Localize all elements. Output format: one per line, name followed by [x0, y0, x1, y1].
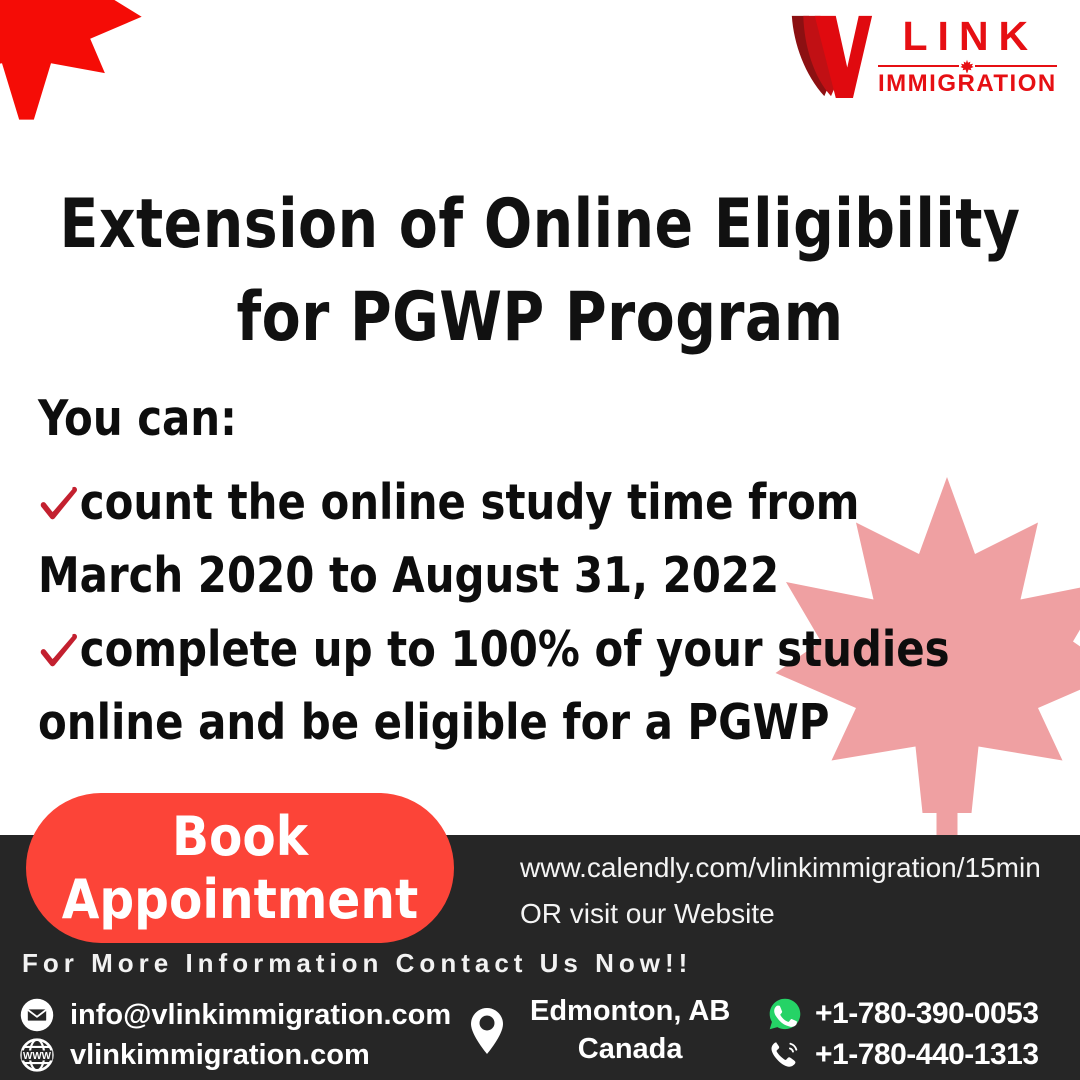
www-globe-icon: WWW [18, 1036, 56, 1074]
maple-leaf-corner-icon [0, 0, 149, 127]
booking-info: www.calendly.com/vlinkimmigration/15min … [520, 845, 1041, 937]
list-item-text: count the online study time from March 2… [38, 474, 859, 605]
contact-location-text: Edmonton, AB Canada [530, 993, 730, 1068]
contact-phone[interactable]: +1-780-440-1313 [765, 1034, 1039, 1075]
page-title: Extension of Online Eligibility for PGWP… [38, 178, 1042, 366]
list-item-text: complete up to 100% of your studies onli… [38, 621, 950, 752]
contact-website-text: vlinkimmigration.com [70, 1039, 370, 1072]
location-line-1: Edmonton, AB [530, 993, 730, 1031]
list-item: complete up to 100% of your studies onli… [38, 613, 1017, 760]
book-appointment-button[interactable]: Book Appointment [26, 793, 454, 943]
logo-v-mark-icon [788, 10, 874, 102]
svg-text:WWW: WWW [23, 1051, 52, 1062]
more-info-heading: For More Information Contact Us Now!! [22, 948, 692, 979]
logo-maple-leaf-icon [959, 58, 975, 74]
check-mark-icon [38, 485, 78, 525]
contact-email[interactable]: info@vlinkimmigration.com [18, 995, 451, 1035]
phone-ring-icon [765, 1037, 805, 1073]
check-mark-icon [38, 632, 78, 672]
list-lead-text: You can: [38, 382, 1017, 456]
logo-divider [878, 60, 1057, 70]
benefits-list: You can: count the online study time fro… [38, 382, 1017, 760]
contact-whatsapp-text: +1-780-390-0053 [815, 997, 1039, 1031]
contact-location: Edmonton, AB Canada [468, 993, 730, 1068]
contact-row: info@vlinkimmigration.com WWW vlinkimmig… [0, 995, 1080, 1080]
contact-group-phones: +1-780-390-0053 +1-780-440-1313 [765, 993, 1039, 1075]
contact-website[interactable]: WWW vlinkimmigration.com [18, 1035, 370, 1075]
headline-line-1: Extension of Online Eligibility [38, 178, 1042, 272]
contact-phone-text: +1-780-440-1313 [815, 1038, 1039, 1072]
envelope-icon [18, 996, 56, 1034]
contact-group-web: info@vlinkimmigration.com WWW vlinkimmig… [18, 995, 451, 1075]
booking-url[interactable]: www.calendly.com/vlinkimmigration/15min [520, 845, 1041, 891]
whatsapp-icon [765, 996, 805, 1032]
contact-email-text: info@vlinkimmigration.com [70, 999, 451, 1032]
map-pin-icon [468, 1012, 506, 1050]
booking-alt-text: OR visit our Website [520, 891, 1041, 937]
list-item: count the online study time from March 2… [38, 466, 1017, 613]
logo-immigration-text: IMMIGRATION [878, 72, 1057, 96]
location-line-2: Canada [530, 1031, 730, 1069]
headline-line-2: for PGWP Program [38, 271, 1042, 365]
poster-canvas: LINK IMMIGRATION Extension of Online Eli… [0, 0, 1080, 1080]
contact-whatsapp[interactable]: +1-780-390-0053 [765, 993, 1039, 1034]
vlink-immigration-logo[interactable]: LINK IMMIGRATION [788, 8, 1058, 104]
logo-link-text: LINK [878, 16, 1057, 57]
